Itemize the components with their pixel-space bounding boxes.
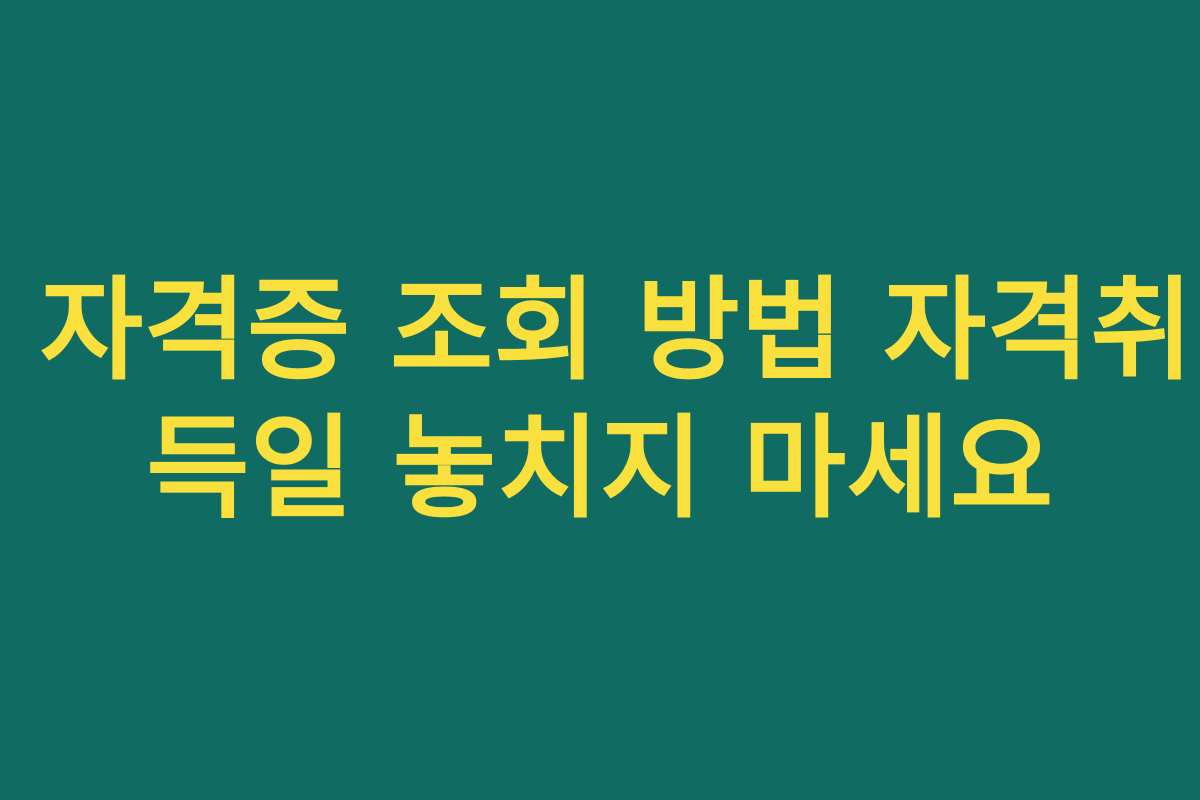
banner-card: 자격증 조회 방법 자격취 득일 놓치지 마세요 xyxy=(0,0,1200,800)
banner-title: 자격증 조회 방법 자격취 득일 놓치지 마세요 xyxy=(40,262,1160,538)
banner-title-line-2: 득일 놓치지 마세요 xyxy=(40,400,1160,538)
banner-title-line-1: 자격증 조회 방법 자격취 xyxy=(40,262,1160,400)
